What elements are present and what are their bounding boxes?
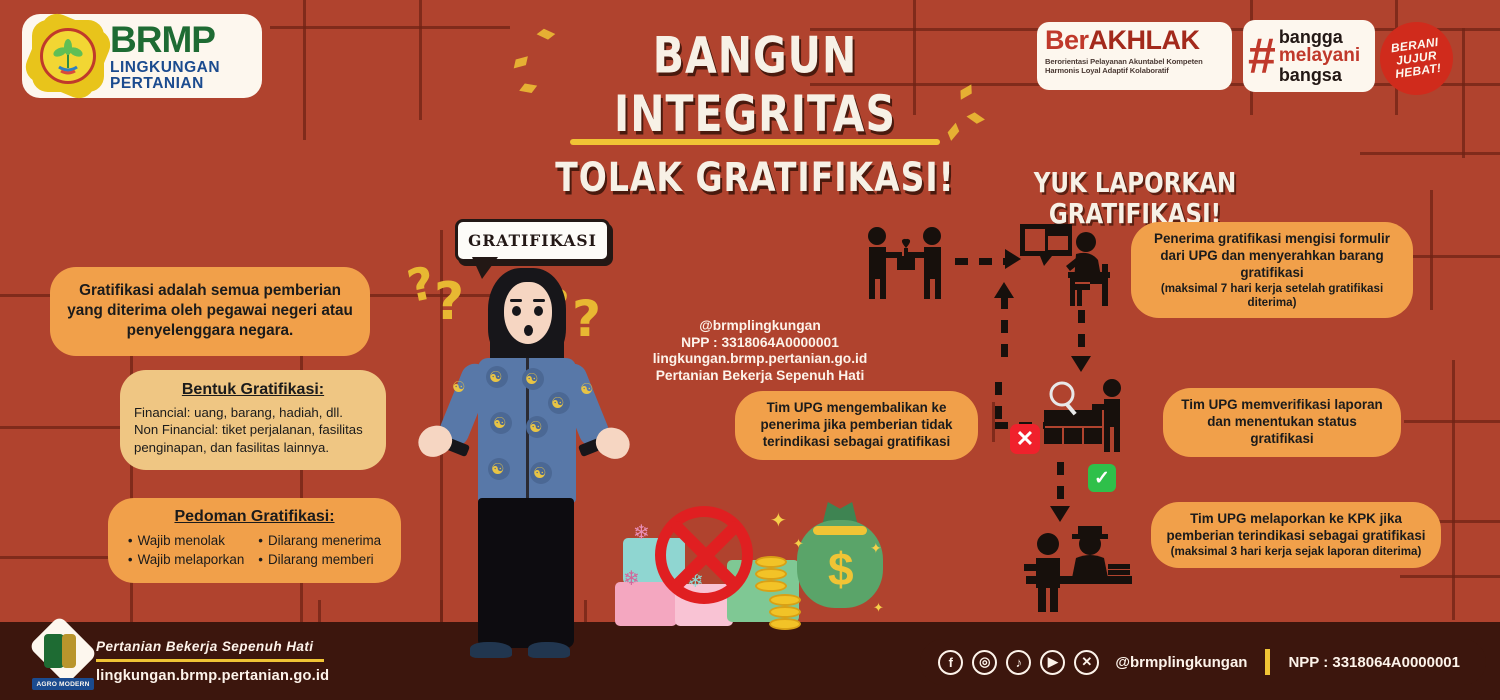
coin-icon [769,618,801,630]
definition-text: Gratifikasi adalah semua pemberian yang … [66,281,354,342]
sparkle-icon: ✦ [793,536,804,552]
flow-step-1-text: Penerima gratifikasi mengisi formulir da… [1145,231,1399,282]
flow-return-card: Tim UPG mengembalikan ke penerima jika p… [735,391,978,460]
arrowhead-icon [994,282,1014,298]
center-handle: @brmplingkungan [615,318,905,335]
brmp-logo-sub1: LINGKUNGAN [110,60,220,76]
bentuk-gratifikasi-card: Bentuk Gratifikasi: Financial: uang, bar… [120,370,386,470]
berakhlak-values-line1: Berorientasi Pelayanan Akuntabel Kompete… [1045,57,1224,66]
footer-left-block: Pertanian Bekerja Sepenuh Hati lingkunga… [96,630,329,692]
list-item: Dilarang memberi [258,550,381,569]
gift-handover-pictogram [862,226,948,306]
reporting-counter-pictogram [1020,520,1138,617]
footer-npp: NPP : 3318064A0000001 [1288,654,1460,671]
brmp-logo-sub2: PERTANIAN [110,76,220,92]
sparkle-icon: ✦ [870,540,882,557]
shoe-right [528,642,570,658]
rejected-marker-icon: ✕ [1010,424,1040,454]
definition-card: Gratifikasi adalah semua pemberian yang … [50,267,370,356]
coin-icon [755,568,787,580]
face-icon [504,282,552,344]
footer-separator [1265,649,1270,675]
coin-icon [769,594,801,606]
speech-bubble-text: GRATIFIKASI [468,231,597,250]
center-contact-block: @brmplingkungan NPP : 3318064A0000001 li… [615,318,905,384]
berani-jujur-hebat-badge: BERANI JUJUR HEBAT! [1375,17,1457,99]
footer-website: lingkungan.brmp.pertanian.go.id [96,668,329,684]
dollar-sign-icon: $ [828,542,854,596]
footer-divider [96,659,324,662]
pedoman-column-1: Wajib menolak Wajib melaporkan [128,531,244,570]
gift-bow-icon: ❄ [623,566,640,591]
footer-social-bar: f ◎ ♪ ▶ ✕ @brmplingkungan NPP : 3318064A… [920,639,1486,685]
berakhlak-ber: Ber [1045,25,1089,55]
money-bag-tie [813,526,867,535]
pedoman-heading: Pedoman Gratifikasi: [120,508,389,526]
arrowhead-icon [1050,506,1070,522]
prohibition-cross-icon [655,506,753,604]
facebook-icon[interactable]: f [938,650,963,675]
tiktok-icon[interactable]: ♪ [1006,650,1031,675]
bentuk-line-3: penginapan, dan fasilitas lainnya. [134,439,372,456]
approved-marker-icon: ✓ [1088,464,1116,492]
flow-arrow-up [1001,296,1008,358]
coin-icon [755,556,787,568]
arrowhead-icon [1005,249,1021,269]
flow-step-1-note: (maksimal 7 hari kerja setelah gratifika… [1145,282,1399,310]
flow-step-1-card: Penerima gratifikasi mengisi formulir da… [1131,222,1413,318]
coin-icon [755,580,787,592]
bangga-line2: melayani [1279,46,1360,65]
poster-title: BANGUN INTEGRITAS TOLAK GRATIFIKASI! [520,26,990,192]
berakhlak-values-line2: Harmonis Loyal Adaptif Kolaboratif [1045,66,1224,75]
bangga-line3: bangsa [1279,66,1360,84]
infographic-poster: BRMP LINGKUNGAN PERTANIAN BANGUN INTEGRI… [0,0,1500,700]
flow-step-2-card: Tim UPG memverifikasi laporan dan menent… [1163,388,1401,457]
gifts-and-money-illustration: ❄ ❄ ❄ $ ✦ ✦ ✦ ✦ [615,498,895,628]
character-illustration: ☯ ☯ ☯ ☯ ☯ ☯ ☯ ☯ ☯ [430,250,620,670]
berakhlak-logo: BerAKHLAK Berorientasi Pelayanan Akuntab… [1037,22,1232,90]
brmp-logo: BRMP LINGKUNGAN PERTANIAN [22,14,262,98]
bentuk-line-1: Financial: uang, barang, hadiah, dll. [134,404,372,421]
agro-modern-label: AGRO MODERN [32,678,94,690]
bangga-line1: bangga [1279,28,1360,46]
ministry-seal-icon [32,20,104,92]
form-filling-pictogram [1014,222,1124,315]
list-item: Wajib menolak [128,531,244,550]
flow-arrow-right [955,258,1009,265]
flow-arrow-down-2 [1057,462,1064,508]
flow-step-3-card: Tim UPG melaporkan ke KPK jika pemberian… [1151,502,1441,568]
title-line-2: TOLAK GRATIFIKASI! [520,153,990,201]
berakhlak-wordmark: BerAKHLAK [1045,27,1224,54]
sparkle-icon: ✦ [873,600,884,616]
flow-step-3-note: (maksimal 3 hari kerja sejak laporan dit… [1165,545,1427,559]
flow-arrow-down-1 [1078,310,1085,358]
brmp-logo-title: BRMP [110,21,220,58]
center-tagline: Pertanian Bekerja Sepenuh Hati [615,368,905,385]
sparkle-icon: ✦ [770,508,787,533]
instagram-icon[interactable]: ◎ [972,650,997,675]
coin-icon [769,606,801,618]
hashtag-icon: # [1248,36,1276,76]
gift-bow-icon: ❄ [633,520,650,545]
x-icon[interactable]: ✕ [1074,650,1099,675]
title-line-1: BANGUN INTEGRITAS [520,26,990,143]
bentuk-line-2: Non Financial: tiket perjalanan, fasilit… [134,421,372,438]
pedoman-column-2: Dilarang menerima Dilarang memberi [258,531,381,570]
inspection-pictogram [1040,378,1130,461]
bentuk-heading: Bentuk Gratifikasi: [134,381,372,399]
footer-tagline: Pertanian Bekerja Sepenuh Hati [96,639,329,654]
list-item: Dilarang menerima [258,531,381,550]
plant-icon [48,36,88,76]
youtube-icon[interactable]: ▶ [1040,650,1065,675]
skirt [478,498,574,648]
flow-step-3-text: Tim UPG melaporkan ke KPK jika pemberian… [1165,511,1427,545]
shoe-left [470,642,512,658]
flow-return-text: Tim UPG mengembalikan ke penerima jika p… [749,400,964,451]
list-item: Wajib melaporkan [128,550,244,569]
bangga-melayani-bangsa-logo: # bangga melayani bangsa [1243,20,1375,92]
batik-jacket: ☯ ☯ ☯ ☯ ☯ ☯ ☯ [478,358,576,503]
agro-modern-logo: AGRO MODERN [32,628,94,688]
center-npp: NPP : 3318064A0000001 [615,335,905,352]
berakhlak-akhlak: AKHLAK [1089,25,1200,55]
pedoman-gratifikasi-card: Pedoman Gratifikasi: Wajib menolak Wajib… [108,498,401,583]
center-website: lingkungan.brmp.pertanian.go.id [615,351,905,368]
footer-handle: @brmplingkungan [1115,654,1247,671]
arrowhead-icon [1071,356,1091,372]
flow-step-2-text: Tim UPG memverifikasi laporan dan menent… [1177,397,1387,448]
